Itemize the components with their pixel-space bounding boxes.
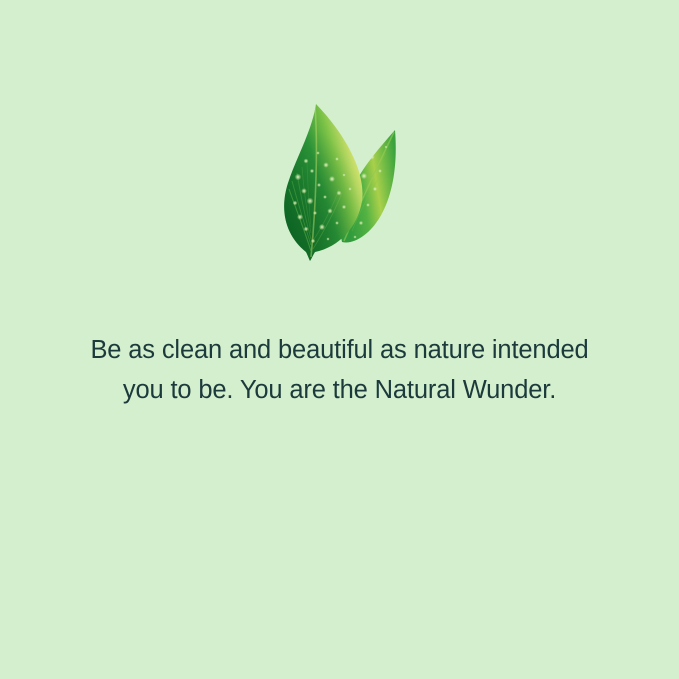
poster-canvas: Be as clean and beautiful as nature inte… [0,0,679,679]
quote-block: Be as clean and beautiful as nature inte… [0,330,679,410]
quote-line-2: you to be. You are the Natural Wunder. [0,370,679,410]
logo-area [0,96,679,266]
two-leaves-with-dew-emblem [282,101,398,261]
quote-line-1: Be as clean and beautiful as nature inte… [0,330,679,370]
